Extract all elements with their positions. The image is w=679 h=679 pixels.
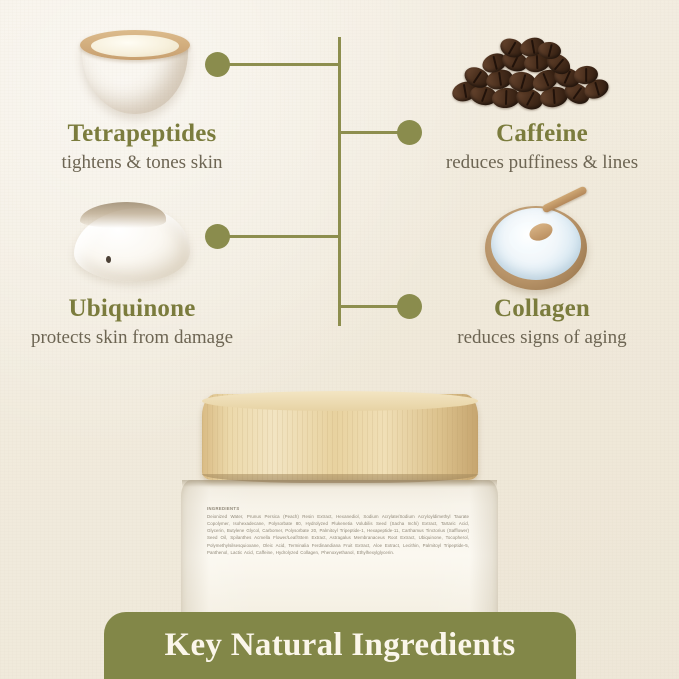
bowl-cream-fill: [91, 35, 179, 57]
infographic-canvas: Tetrapeptides tightens & tones skin Caff…: [0, 0, 679, 679]
jar-ingredients-label: INGREDIENTS Deionized Water, Prunus Pers…: [207, 506, 469, 556]
coffee-beans-pile-icon: [446, 26, 616, 112]
banner-title: Key Natural Ingredients: [165, 627, 516, 664]
connector-dot-tetrapeptides: [205, 52, 230, 77]
wooden-spoon-handle: [541, 185, 588, 213]
serum-blob-speck: [106, 256, 111, 263]
ingredient-benefit-caffeine: reduces puffiness & lines: [410, 152, 674, 174]
connector-vertical-spine: [338, 37, 341, 326]
product-jar: INGREDIENTS Deionized Water, Prunus Pers…: [181, 394, 498, 618]
jar-label-body: Deionized Water, Prunus Persica (Peach) …: [207, 513, 469, 556]
connector-branch-ubiquinone: [228, 235, 340, 238]
ingredient-benefit-tetrapeptides: tightens & tones skin: [10, 152, 274, 174]
ingredient-benefit-ubiquinone: protects skin from damage: [0, 327, 264, 349]
jar-lid-top-surface: [202, 391, 478, 411]
ingredient-title-tetrapeptides: Tetrapeptides: [10, 120, 274, 148]
cream-bowl-with-spoon-icon: [477, 196, 595, 296]
ingredient-title-collagen: Collagen: [410, 295, 674, 323]
wooden-bowl-of-cream-icon: [76, 22, 194, 118]
ingredient-title-caffeine: Caffeine: [410, 120, 674, 148]
ingredient-benefit-collagen: reduces signs of aging: [410, 327, 674, 349]
ingredient-block-ubiquinone: Ubiquinone protects skin from damage: [0, 295, 264, 348]
serum-gel-blob-icon: [70, 198, 196, 290]
key-natural-ingredients-banner: Key Natural Ingredients: [104, 612, 576, 679]
serum-blob-shadow: [80, 202, 166, 228]
ingredient-title-ubiquinone: Ubiquinone: [0, 295, 264, 323]
connector-branch-tetrapeptides: [228, 63, 340, 66]
ingredient-block-caffeine: Caffeine reduces puffiness & lines: [410, 120, 674, 173]
ingredient-block-tetrapeptides: Tetrapeptides tightens & tones skin: [10, 120, 274, 173]
connector-dot-ubiquinone: [205, 224, 230, 249]
jar-label-heading: INGREDIENTS: [207, 506, 469, 511]
ingredient-block-collagen: Collagen reduces signs of aging: [410, 295, 674, 348]
